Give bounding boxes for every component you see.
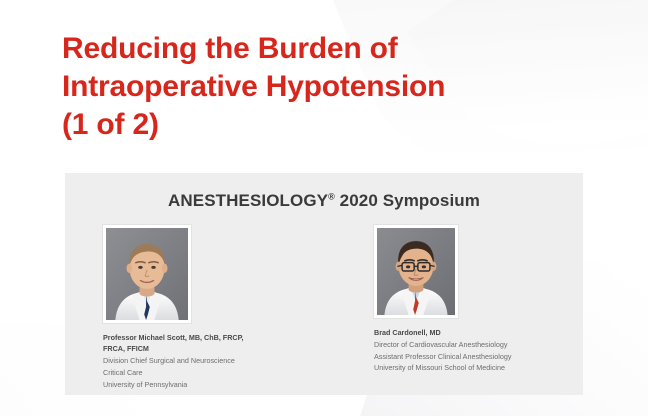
speaker-affiliation-line-2: Assistant Professor Clinical Anesthesiol…: [374, 351, 583, 363]
slide-title: Reducing the Burden of Intraoperative Hy…: [62, 30, 582, 143]
slide-title-line-1: Reducing the Burden of: [62, 30, 582, 68]
speaker-name: Brad Cardonell, MD: [374, 327, 583, 338]
symposium-heading: ANESTHESIOLOGY® 2020 Symposium: [65, 191, 583, 211]
headshot-brad-cardonell-photo: [377, 228, 455, 315]
speaker-affiliation-line-1: Director of Cardiovascular Anesthesiolog…: [374, 339, 583, 351]
speaker-affiliation-line-3: University of Missouri School of Medicin…: [374, 362, 583, 374]
speaker-name: Professor Michael Scott, MB, ChB, FRCP, …: [103, 332, 324, 354]
speaker-photo-frame: [374, 225, 458, 318]
content-panel: ANESTHESIOLOGY® 2020 Symposium: [65, 173, 583, 395]
symposium-heading-rest: 2020 Symposium: [335, 191, 480, 210]
speaker-name-line-1: Professor Michael Scott, MB, ChB, FRCP,: [103, 332, 324, 343]
speaker-affiliation-line-2: Critical Care: [103, 367, 324, 379]
speaker-affiliation-line-1: Division Chief Surgical and Neuroscience: [103, 355, 324, 367]
speaker-card-michael-scott: Professor Michael Scott, MB, ChB, FRCP, …: [65, 225, 324, 390]
speaker-photo-frame: [103, 225, 191, 323]
speaker-name-line-1: Brad Cardonell, MD: [374, 327, 583, 338]
headshot-michael-scott-photo: [106, 228, 188, 320]
speaker-card-brad-cardonell: Brad Cardonell, MD Director of Cardiovas…: [324, 225, 583, 390]
slide-title-line-2: Intraoperative Hypotension: [62, 68, 582, 106]
speaker-info: Brad Cardonell, MD Director of Cardiovas…: [374, 327, 583, 374]
speaker-affiliation-line-3: University of Pennsylvania: [103, 379, 324, 391]
speaker-name-line-2: FRCA, FFICM: [103, 343, 324, 354]
registered-trademark-icon: ®: [328, 191, 335, 201]
speaker-info: Professor Michael Scott, MB, ChB, FRCP, …: [103, 332, 324, 390]
symposium-heading-main: ANESTHESIOLOGY: [168, 191, 328, 210]
speaker-list: Professor Michael Scott, MB, ChB, FRCP, …: [65, 225, 583, 390]
slide: Reducing the Burden of Intraoperative Hy…: [0, 0, 648, 416]
slide-title-line-3: (1 of 2): [62, 106, 582, 144]
